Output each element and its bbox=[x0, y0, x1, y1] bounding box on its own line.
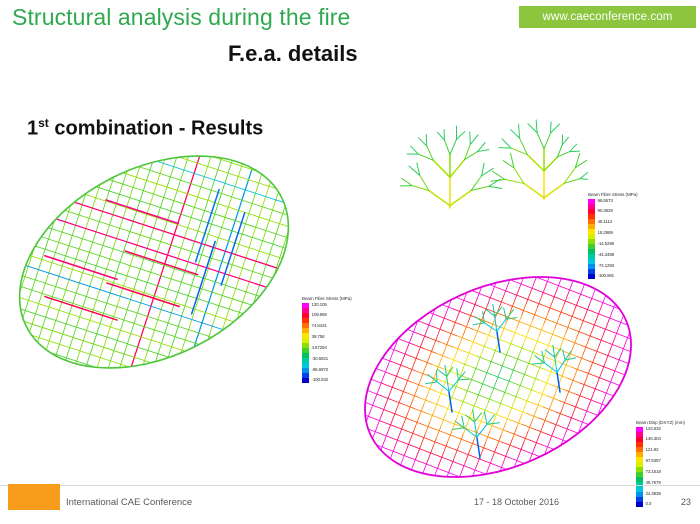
mesh-beam bbox=[577, 356, 589, 361]
legend-color-swatch bbox=[302, 378, 309, 383]
mesh-beam bbox=[106, 200, 178, 223]
mesh-beam bbox=[607, 378, 612, 390]
mesh-beam bbox=[574, 365, 579, 377]
mesh-beam bbox=[452, 428, 464, 430]
mesh-beam bbox=[4, 140, 14, 365]
mesh-beam bbox=[539, 418, 551, 423]
mesh-beam bbox=[599, 333, 604, 345]
mesh-beam bbox=[531, 364, 543, 369]
mesh-beam bbox=[507, 340, 512, 352]
mesh-beam bbox=[440, 342, 452, 347]
legend-tick-value: 15.2989 bbox=[598, 230, 615, 235]
mesh-beam bbox=[398, 453, 410, 458]
mesh-beam bbox=[551, 124, 560, 133]
mesh-beam bbox=[403, 413, 408, 425]
mesh-beam bbox=[574, 266, 579, 278]
mesh-beam bbox=[243, 142, 304, 385]
legend-colorbar bbox=[302, 303, 309, 383]
mesh-beam bbox=[474, 327, 479, 339]
mesh-beam bbox=[407, 393, 419, 398]
mesh-beam bbox=[4, 140, 65, 382]
mesh-beam bbox=[606, 317, 618, 322]
trees-svg bbox=[398, 96, 588, 216]
footer-brand-swatch bbox=[8, 484, 60, 510]
mesh-beam bbox=[492, 171, 504, 179]
mesh-beam bbox=[573, 291, 585, 296]
mesh-beam bbox=[428, 337, 440, 342]
right-grid-shell-displacement-plot bbox=[348, 262, 648, 497]
mesh-beam bbox=[395, 467, 400, 479]
mesh-beam bbox=[549, 299, 554, 311]
mesh-beam bbox=[604, 320, 609, 332]
mesh-beam bbox=[4, 140, 106, 385]
legend-beam-displacement-right: Beam Disp (DXYZ) (mm) 134.632146.304121.… bbox=[636, 420, 685, 507]
mesh-beam bbox=[501, 442, 513, 447]
mesh-beam bbox=[436, 371, 437, 382]
mesh-beam bbox=[427, 351, 432, 363]
mesh-beam bbox=[45, 256, 117, 279]
section-heading-text: combination - Results bbox=[49, 118, 263, 140]
mesh-beam bbox=[512, 427, 517, 439]
mesh-beam bbox=[506, 410, 511, 422]
mesh-beam bbox=[502, 366, 514, 371]
mesh-beam bbox=[454, 447, 459, 459]
mesh-beam bbox=[458, 379, 468, 380]
mesh-beam bbox=[481, 443, 486, 455]
mesh-beam bbox=[544, 183, 564, 197]
mesh-beam bbox=[590, 323, 602, 328]
mesh-beam bbox=[471, 368, 476, 380]
mesh-beam bbox=[523, 332, 528, 344]
mesh-beam bbox=[464, 466, 476, 471]
mesh-beam bbox=[497, 453, 509, 458]
mesh-beam bbox=[8, 140, 116, 385]
mesh-beam bbox=[464, 428, 476, 433]
mesh-beam bbox=[504, 308, 506, 319]
mesh-beam bbox=[406, 471, 411, 483]
mesh-beam bbox=[392, 409, 397, 421]
mesh-beam bbox=[602, 328, 614, 333]
legend-title: Beam Fibre Stress (MPa) bbox=[588, 192, 638, 197]
mesh-beam bbox=[452, 385, 464, 390]
mesh-beam bbox=[537, 133, 544, 149]
legend-colorbar bbox=[588, 199, 595, 279]
mesh-beam bbox=[539, 380, 551, 385]
mesh-beam bbox=[581, 345, 593, 350]
mesh-beam bbox=[544, 133, 551, 148]
mesh-beam bbox=[477, 394, 489, 399]
mesh-beam bbox=[458, 298, 470, 303]
mesh-beam bbox=[445, 331, 457, 336]
legend-values: 96.557390.362945.111415.2989-14.5295-44.… bbox=[598, 199, 615, 279]
mesh-beam bbox=[449, 360, 454, 372]
mesh-beam bbox=[399, 377, 411, 382]
mesh-beam bbox=[382, 421, 394, 426]
page-title: Structural analysis during the fire bbox=[12, 4, 350, 31]
mesh-beam bbox=[450, 139, 457, 154]
mesh-beam bbox=[511, 299, 516, 311]
mesh-beam bbox=[576, 394, 581, 406]
mesh-beam bbox=[519, 124, 520, 138]
mesh-beam bbox=[514, 168, 524, 184]
mesh-beam bbox=[420, 360, 432, 365]
mesh-beam bbox=[495, 274, 507, 279]
mesh-beam bbox=[435, 397, 440, 409]
mesh-beam bbox=[433, 467, 438, 479]
mesh-beam bbox=[454, 348, 459, 360]
mesh-beam bbox=[449, 358, 461, 363]
mesh-beam bbox=[410, 458, 422, 463]
mesh-beam bbox=[580, 171, 588, 179]
mesh-beam bbox=[284, 155, 304, 385]
mesh-beam bbox=[403, 404, 415, 409]
mesh-beam bbox=[453, 347, 465, 352]
mesh-beam bbox=[482, 373, 487, 385]
mesh-beam bbox=[431, 478, 443, 483]
mesh-beam bbox=[435, 429, 447, 434]
mesh-beam bbox=[490, 361, 502, 366]
mesh-beam bbox=[470, 303, 482, 308]
mesh-beam bbox=[535, 429, 547, 434]
mesh-beam bbox=[436, 426, 441, 438]
mesh-beam bbox=[492, 447, 497, 459]
mesh-beam bbox=[412, 389, 417, 401]
mesh-beam bbox=[625, 300, 630, 312]
mesh-beam bbox=[390, 437, 402, 442]
mesh-beam bbox=[517, 414, 522, 426]
mesh-beam bbox=[424, 349, 436, 354]
legend-tick-value: -100.832 bbox=[312, 377, 329, 382]
mesh-beam bbox=[416, 333, 428, 338]
mesh-beam bbox=[432, 364, 444, 369]
mesh-beam bbox=[449, 320, 461, 325]
mesh-beam bbox=[585, 370, 590, 382]
mesh-beam bbox=[443, 343, 448, 355]
mesh-beam bbox=[560, 403, 565, 415]
mesh-beam bbox=[526, 291, 531, 303]
mesh-beam bbox=[552, 385, 564, 390]
mesh-beam bbox=[420, 335, 425, 347]
mesh-beam bbox=[367, 442, 372, 454]
mesh-beam bbox=[427, 413, 439, 418]
legend-values: 120.105109.95874.843139.7584.57294-30.58… bbox=[312, 303, 329, 383]
mesh-beam bbox=[590, 357, 595, 369]
legend-values: 134.632146.304121.9297.535773.151848.767… bbox=[646, 427, 661, 507]
mesh-beam bbox=[412, 344, 424, 349]
mesh-beam bbox=[444, 407, 456, 412]
legend-tick-value: 90.3629 bbox=[598, 209, 615, 213]
mesh-beam bbox=[534, 435, 539, 447]
mesh-beam bbox=[489, 475, 501, 480]
left-grid-shell-stress-plot bbox=[4, 140, 304, 390]
mesh-beam bbox=[477, 424, 487, 437]
mesh-beam bbox=[556, 412, 568, 417]
mesh-beam bbox=[581, 383, 593, 388]
mesh-beam bbox=[573, 367, 585, 372]
legend-tick-value: -14.5295 bbox=[598, 241, 615, 246]
right-mesh-grid bbox=[353, 266, 643, 488]
mesh-beam bbox=[468, 455, 480, 460]
mesh-beam bbox=[31, 140, 304, 183]
mesh-beam bbox=[390, 399, 402, 404]
mesh-beam bbox=[44, 140, 304, 142]
mesh-beam bbox=[221, 213, 244, 285]
mesh-beam bbox=[456, 450, 468, 455]
mesh-beam bbox=[497, 331, 500, 352]
mesh-beam bbox=[507, 355, 519, 360]
mesh-beam bbox=[458, 435, 463, 447]
mesh-beam bbox=[569, 341, 581, 346]
mesh-beam bbox=[637, 333, 642, 345]
mesh-beam bbox=[547, 396, 559, 401]
mesh-beam bbox=[469, 341, 481, 346]
mesh-beam bbox=[4, 290, 294, 385]
mesh-beam bbox=[519, 344, 524, 356]
mesh-beam bbox=[411, 382, 423, 387]
legend-tick-value: -44.3489 bbox=[598, 252, 615, 257]
mesh-beam bbox=[4, 341, 277, 385]
page-subtitle: F.e.a. details bbox=[228, 41, 358, 67]
mesh-beam bbox=[560, 303, 565, 315]
mesh-beam bbox=[457, 406, 462, 418]
mesh-beam bbox=[498, 365, 503, 377]
mesh-beam bbox=[514, 447, 526, 452]
mesh-beam bbox=[405, 343, 410, 355]
mesh-beam bbox=[402, 178, 412, 185]
mesh-beam bbox=[474, 330, 486, 335]
mesh-beam bbox=[544, 157, 558, 171]
mesh-beam bbox=[503, 452, 508, 464]
mesh-beam bbox=[423, 463, 435, 468]
mesh-beam bbox=[542, 382, 547, 394]
mesh-beam bbox=[487, 460, 492, 472]
mesh-beam bbox=[378, 347, 383, 359]
mesh-beam bbox=[598, 301, 610, 306]
mesh-beam bbox=[631, 316, 636, 328]
mesh-beam bbox=[37, 140, 304, 163]
mesh-beam bbox=[387, 421, 392, 433]
mesh-beam bbox=[354, 409, 359, 421]
legend-tick-value: 48.7679 bbox=[646, 480, 661, 485]
mesh-beam bbox=[500, 294, 505, 306]
mesh-beam bbox=[462, 393, 467, 405]
mesh-beam bbox=[533, 363, 545, 364]
mesh-beam bbox=[452, 461, 464, 466]
mesh-beam bbox=[461, 363, 473, 368]
mesh-beam bbox=[515, 333, 527, 338]
mesh-beam bbox=[417, 376, 422, 388]
legend-tick-value: 120.105 bbox=[312, 303, 329, 307]
mesh-beam bbox=[465, 451, 470, 463]
mesh-beam bbox=[612, 366, 617, 378]
mesh-beam bbox=[623, 310, 635, 315]
mesh-beam bbox=[580, 179, 588, 180]
left-mesh-grid bbox=[4, 140, 304, 385]
mesh-beam bbox=[527, 413, 539, 418]
mesh-beam bbox=[495, 316, 497, 331]
mesh-beam bbox=[564, 168, 575, 184]
mesh-beam bbox=[4, 187, 304, 295]
mesh-beam bbox=[548, 358, 560, 363]
mesh-beam bbox=[553, 345, 555, 357]
mesh-beam bbox=[447, 430, 452, 442]
mesh-beam bbox=[544, 311, 549, 323]
mesh-beam bbox=[429, 191, 450, 206]
legend-tick-value: -74.1293 bbox=[598, 263, 615, 268]
mesh-beam bbox=[486, 296, 498, 301]
mesh-beam bbox=[14, 140, 304, 234]
mesh-beam bbox=[420, 434, 425, 446]
mesh-beam bbox=[395, 368, 400, 380]
section-number: 1 bbox=[27, 118, 38, 140]
mesh-beam bbox=[569, 303, 581, 308]
mesh-beam bbox=[549, 398, 554, 410]
mesh-beam bbox=[586, 296, 598, 301]
legend-tick-value: 73.1518 bbox=[646, 469, 661, 474]
mesh-beam bbox=[4, 269, 301, 377]
mesh-beam bbox=[543, 407, 555, 412]
mesh-beam bbox=[441, 314, 446, 326]
mesh-beam bbox=[482, 273, 487, 285]
mesh-beam bbox=[520, 373, 525, 385]
mesh-beam bbox=[633, 345, 638, 357]
mesh-beam bbox=[582, 411, 587, 423]
mesh-beam bbox=[403, 366, 415, 371]
mesh-beam bbox=[551, 122, 552, 133]
mesh-beam bbox=[587, 399, 592, 411]
legend-tick-value: 121.92 bbox=[646, 447, 661, 452]
mesh-beam bbox=[453, 309, 465, 314]
mesh-beam bbox=[519, 322, 531, 327]
mesh-beam bbox=[498, 339, 510, 344]
mesh-beam bbox=[593, 350, 605, 355]
mesh-beam bbox=[558, 274, 563, 286]
mesh-beam bbox=[361, 401, 373, 406]
legend-tick-value: 96.5573 bbox=[598, 199, 615, 203]
mesh-beam bbox=[384, 363, 389, 375]
mesh-beam bbox=[561, 287, 573, 292]
mesh-beam bbox=[489, 399, 501, 404]
mesh-beam bbox=[457, 306, 462, 318]
mesh-beam bbox=[491, 285, 503, 290]
mesh-beam bbox=[528, 124, 537, 133]
mesh-beam bbox=[485, 331, 490, 343]
mesh-beam bbox=[4, 228, 304, 336]
legend-tick-value: 146.304 bbox=[646, 437, 661, 441]
mesh-beam bbox=[418, 138, 426, 146]
mesh-beam bbox=[585, 334, 597, 339]
mesh-beam bbox=[465, 352, 477, 357]
mesh-beam bbox=[452, 319, 457, 331]
mesh-beam bbox=[553, 309, 565, 314]
mesh-beam bbox=[553, 386, 558, 398]
mesh-beam bbox=[498, 377, 510, 382]
mesh-beam bbox=[419, 436, 431, 441]
mesh-beam bbox=[357, 374, 369, 379]
mesh-beam bbox=[223, 140, 304, 385]
mesh-beam bbox=[506, 431, 518, 436]
legend-tick-value: 4.57294 bbox=[312, 345, 329, 350]
mesh-beam bbox=[523, 431, 528, 443]
mesh-beam bbox=[503, 328, 515, 333]
mesh-beam bbox=[473, 397, 478, 409]
mesh-beam bbox=[386, 448, 398, 453]
mesh-beam bbox=[451, 389, 456, 401]
mesh-beam bbox=[572, 405, 584, 410]
mesh-beam bbox=[520, 284, 532, 289]
mesh-beam bbox=[540, 342, 552, 347]
mesh-beam bbox=[577, 318, 589, 323]
mesh-beam bbox=[444, 140, 450, 154]
mesh-beam bbox=[45, 297, 117, 320]
mesh-beam bbox=[360, 425, 365, 437]
legend-tick-value: 45.1114 bbox=[598, 219, 615, 224]
mesh-beam bbox=[555, 316, 560, 328]
website-url-badge[interactable]: www.caeconference.com bbox=[519, 6, 696, 28]
mesh-beam bbox=[489, 186, 502, 188]
mesh-beam bbox=[571, 407, 576, 419]
mesh-beam bbox=[432, 402, 444, 407]
mesh-beam bbox=[406, 372, 411, 384]
mesh-beam bbox=[515, 286, 520, 298]
legend-color-swatch bbox=[636, 502, 643, 507]
legend-tick-value: 97.5357 bbox=[646, 458, 661, 463]
tree-column-right bbox=[491, 120, 588, 200]
mesh-beam bbox=[468, 311, 473, 323]
mesh-beam bbox=[450, 160, 464, 178]
mesh-beam bbox=[488, 290, 493, 302]
mesh-beam bbox=[131, 140, 239, 385]
mesh-beam bbox=[565, 390, 570, 402]
mesh-beam bbox=[553, 271, 565, 276]
mesh-beam bbox=[627, 337, 639, 342]
legend-title: Beam Disp (DXYZ) (mm) bbox=[636, 420, 685, 425]
mesh-beam bbox=[446, 401, 451, 413]
mesh-beam bbox=[622, 348, 634, 353]
legend-tick-value: 39.758 bbox=[312, 334, 329, 339]
mesh-beam bbox=[622, 341, 627, 353]
mesh-beam bbox=[522, 425, 534, 430]
mesh-beam bbox=[424, 393, 429, 405]
mesh-beam bbox=[524, 183, 544, 197]
mesh-beam bbox=[510, 420, 522, 425]
mesh-beam bbox=[473, 406, 485, 411]
footer-conference-name: International CAE Conference bbox=[66, 497, 192, 508]
legend-tick-value: 134.632 bbox=[646, 427, 661, 431]
mesh-beam bbox=[530, 440, 542, 445]
legend-tick-value: 109.958 bbox=[312, 313, 329, 317]
mesh-beam bbox=[585, 372, 597, 377]
mesh-beam bbox=[377, 433, 389, 438]
mesh-beam bbox=[359, 396, 364, 408]
mesh-beam bbox=[461, 325, 473, 330]
mesh-beam bbox=[534, 336, 539, 348]
mesh-beam bbox=[531, 402, 543, 407]
mesh-beam bbox=[527, 390, 532, 402]
mesh-beam bbox=[460, 439, 472, 444]
mesh-beam bbox=[562, 137, 568, 144]
mesh-beam bbox=[622, 386, 634, 391]
mesh-beam bbox=[566, 320, 571, 332]
mesh-beam bbox=[4, 140, 24, 369]
mesh-beam bbox=[631, 326, 643, 331]
mesh-beam bbox=[512, 328, 517, 340]
mesh-beam bbox=[390, 380, 395, 392]
mesh-beam bbox=[415, 447, 427, 452]
mesh-beam bbox=[407, 355, 419, 360]
mesh-beam bbox=[561, 325, 573, 330]
mesh-beam bbox=[446, 302, 451, 314]
